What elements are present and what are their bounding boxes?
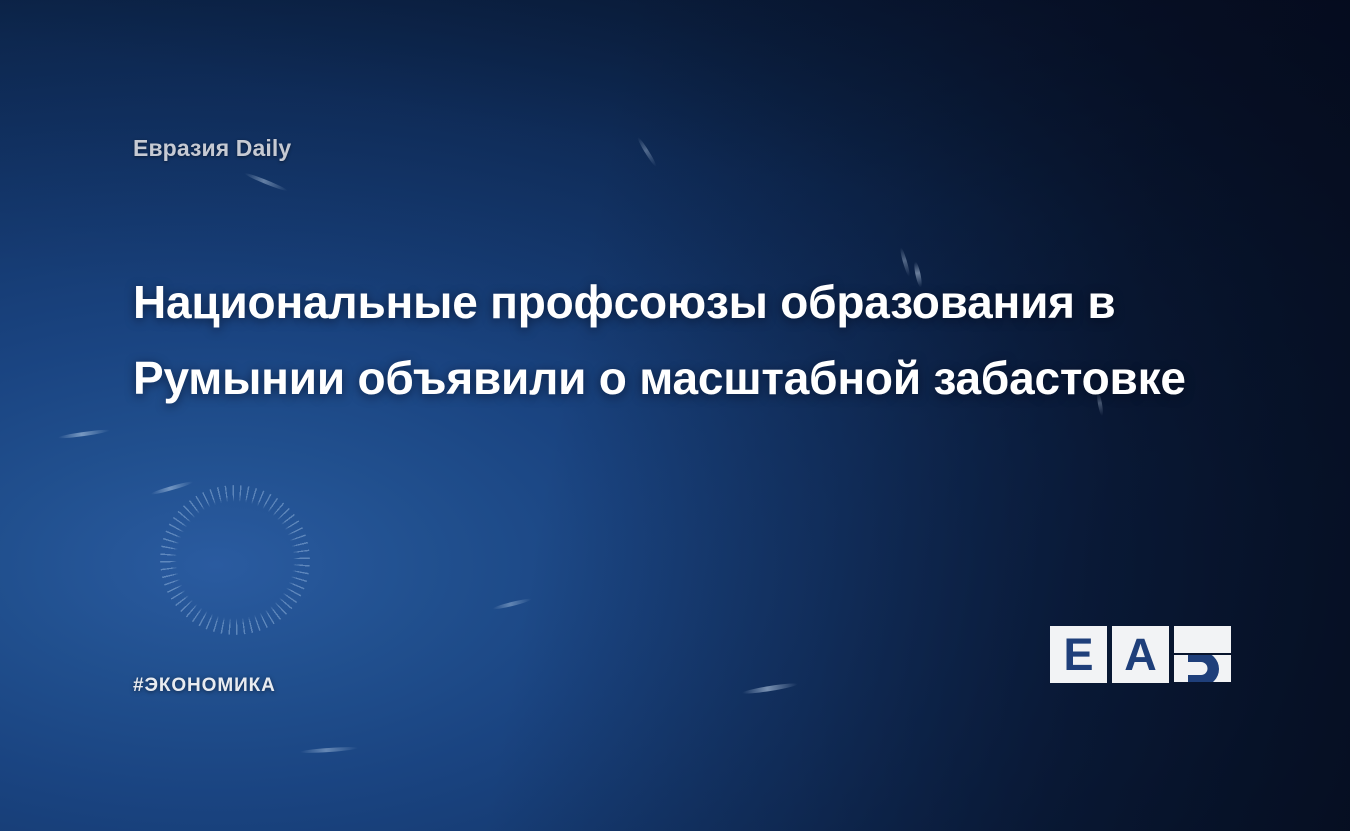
page-title: Национальные профсоюзы образования в Рум… [133,264,1253,416]
logo-d-rotated-icon [1174,626,1231,653]
logo-tile-e: E [1050,626,1107,683]
card-content: Евразия Daily Национальные профсоюзы обр… [0,0,1350,831]
logo-tile-a: A [1112,626,1169,683]
brand-name: Евразия Daily [133,137,291,160]
logo-tile-d-stack [1174,626,1231,682]
eadaily-logo[interactable]: E A [1050,626,1231,683]
news-share-card: Евразия Daily Национальные профсоюзы обр… [0,0,1350,831]
logo-d-icon [1174,655,1231,682]
category-tag[interactable]: #ЭКОНОМИКА [133,676,276,695]
